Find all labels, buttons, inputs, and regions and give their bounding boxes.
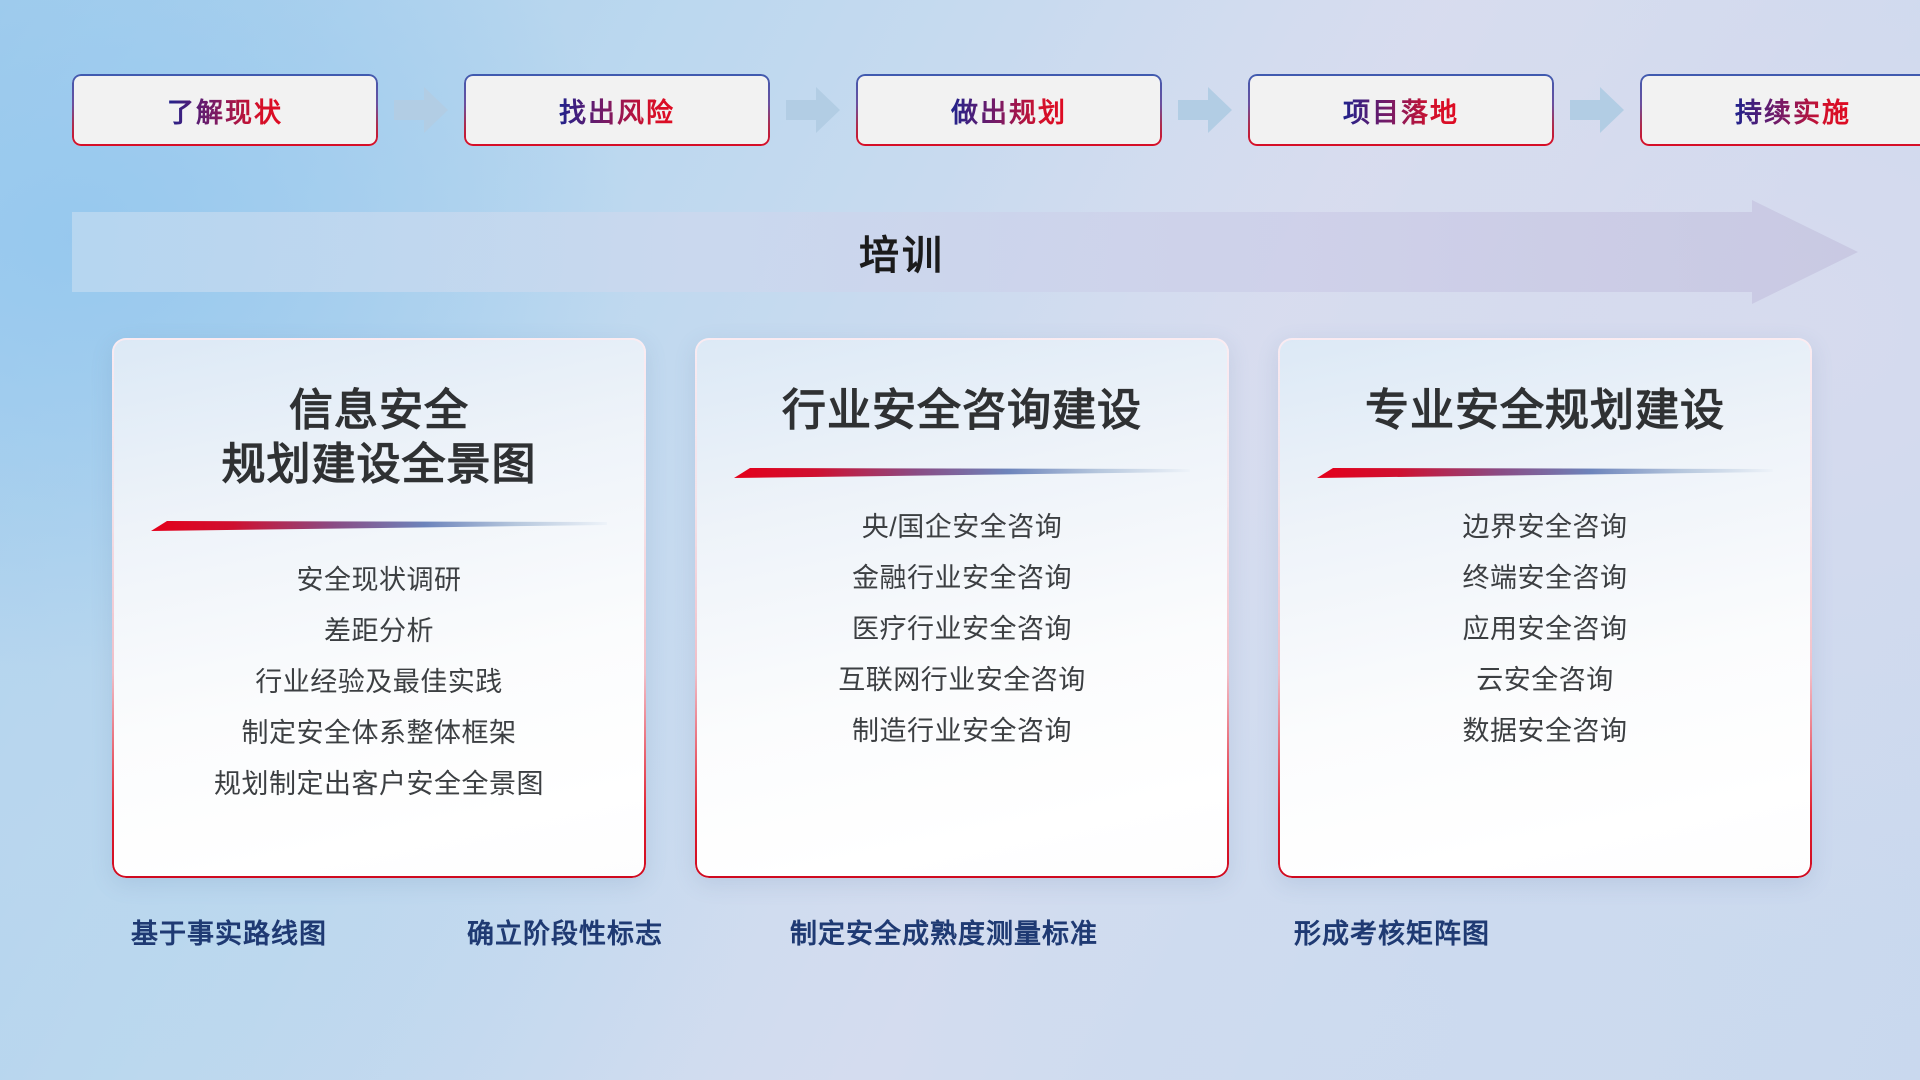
step-label: 项目落地	[1343, 91, 1459, 130]
card-divider	[734, 464, 1190, 480]
card-1[interactable]: 信息安全 规划建设全景图	[112, 338, 646, 878]
training-banner: 培训	[72, 200, 1858, 304]
footnote-row: 基于事实路线图 确立阶段性标志 制定安全成熟度测量标准 形成考核矩阵图	[0, 912, 1920, 960]
step-label: 了解现状	[167, 91, 283, 130]
step-label: 做出规划	[951, 91, 1067, 130]
list-item: 金融行业安全咨询	[852, 553, 1072, 604]
footnote-4: 形成考核矩阵图	[1294, 912, 1490, 951]
step-box-5[interactable]: 持续实施	[1640, 74, 1920, 146]
slide-canvas: 了解现状 找出风险 做出规划 项目落地 持续实施	[0, 0, 1920, 1080]
card-divider	[1317, 464, 1773, 480]
step-box-2[interactable]: 找出风险	[464, 74, 770, 146]
list-item: 制定安全体系整体框架	[242, 708, 517, 759]
list-item: 央/国企安全咨询	[862, 502, 1063, 553]
step-box-3[interactable]: 做出规划	[856, 74, 1162, 146]
list-item: 规划制定出客户安全全景图	[214, 759, 544, 810]
card-item-list: 边界安全咨询 终端安全咨询 应用安全咨询 云安全咨询 数据安全咨询	[1278, 502, 1812, 757]
list-item: 行业经验及最佳实践	[255, 657, 503, 708]
card-title: 专业安全规划建设	[1365, 384, 1725, 438]
right-arrow-icon	[1570, 87, 1624, 133]
right-arrow-icon	[394, 87, 448, 133]
list-item: 云安全咨询	[1476, 655, 1614, 706]
list-item: 终端安全咨询	[1463, 553, 1628, 604]
card-3[interactable]: 专业安全规划建设	[1278, 338, 1812, 878]
list-item: 数据安全咨询	[1463, 706, 1628, 757]
list-item: 安全现状调研	[297, 555, 462, 606]
footnote-1: 基于事实路线图	[131, 912, 327, 951]
list-item: 边界安全咨询	[1463, 502, 1628, 553]
list-item: 医疗行业安全咨询	[852, 604, 1072, 655]
process-step-row: 了解现状 找出风险 做出规划 项目落地 持续实施	[72, 74, 1858, 146]
step-label: 找出风险	[559, 91, 675, 130]
list-item: 差距分析	[324, 606, 434, 657]
list-item: 互联网行业安全咨询	[838, 655, 1086, 706]
card-2[interactable]: 行业安全咨询建设	[695, 338, 1229, 878]
card-row: 信息安全 规划建设全景图	[112, 338, 1812, 878]
list-item: 应用安全咨询	[1463, 604, 1628, 655]
right-arrow-icon	[1178, 87, 1232, 133]
list-item: 制造行业安全咨询	[852, 706, 1072, 757]
card-item-list: 安全现状调研 差距分析 行业经验及最佳实践 制定安全体系整体框架 规划制定出客户…	[112, 555, 646, 810]
footnote-2: 确立阶段性标志	[467, 912, 663, 951]
card-title: 信息安全 规划建设全景图	[222, 384, 537, 491]
step-box-4[interactable]: 项目落地	[1248, 74, 1554, 146]
step-box-1[interactable]: 了解现状	[72, 74, 378, 146]
card-divider	[151, 517, 607, 533]
right-arrow-icon	[786, 87, 840, 133]
banner-title: 培训	[72, 200, 1732, 304]
card-item-list: 央/国企安全咨询 金融行业安全咨询 医疗行业安全咨询 互联网行业安全咨询 制造行…	[695, 502, 1229, 757]
card-title: 行业安全咨询建设	[782, 384, 1142, 438]
footnote-3: 制定安全成熟度测量标准	[790, 912, 1098, 951]
step-label: 持续实施	[1735, 91, 1851, 130]
